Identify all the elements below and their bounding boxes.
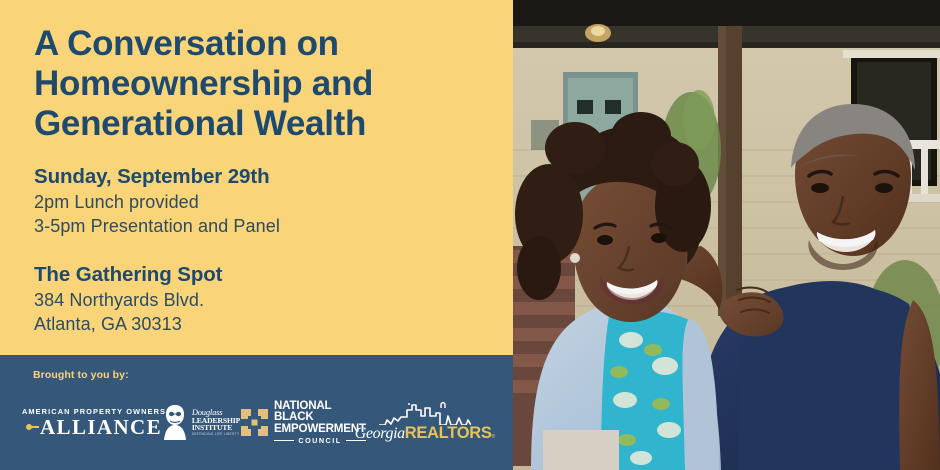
sponsor-logo-douglass-leadership-institute[interactable]: Douglass LEADERSHIP INSTITUTE DEFENDING … [159,404,241,440]
dli-text-lockup: Douglass LEADERSHIP INSTITUTE DEFENDING … [192,408,240,437]
event-details: Sunday, September 29th 2pm Lunch provide… [34,163,504,239]
page-title: A Conversation on Homeownership and Gene… [34,24,484,144]
interlocking-squares-icon [241,409,268,436]
content-block: A Conversation on Homeownership and Gene… [34,24,504,337]
sponsor-logo-row: AMERICAN PROPERTY OWNERS ALLIANCE [29,391,499,453]
sponsor-logo-national-black-empowerment-council[interactable]: NATIONAL BLACK EMPOWERMENT COUNCIL [241,400,366,445]
event-date: Sunday, September 29th [34,163,504,190]
venue-name: The Gathering Spot [34,261,504,288]
apoa-wordmark: ALLIANCE [40,417,162,438]
dli-tagline: DEFENDING LIFE LIBERTY [192,433,240,436]
nbec-line-1: NATIONAL BLACK [274,400,366,424]
title-line-2: Homeownership and [34,64,484,104]
brought-to-you-by-label: Brought to you by: [33,369,129,381]
key-icon [26,423,39,432]
sponsor-logo-american-property-owners-alliance[interactable]: AMERICAN PROPERTY OWNERS ALLIANCE [29,407,159,438]
title-line-1: A Conversation on [34,24,484,64]
douglass-bust-icon [160,404,190,440]
couple-photo [513,0,940,470]
venue-address: 384 Northyards Blvd. [34,288,504,312]
dli-script-name: Douglass [192,408,240,417]
event-schedule-lunch: 2pm Lunch provided [34,190,504,214]
atlanta-skyline-icon [379,402,471,425]
nbec-rule-left [274,440,294,441]
nbec-text-lockup: NATIONAL BLACK EMPOWERMENT COUNCIL [274,400,366,445]
sponsor-footer: Brought to you by: AMERICAN PROPERTY OWN… [0,355,513,470]
georgia-realtors-wordmark: Georgia REALTORS ® [355,424,495,443]
title-line-3: Generational Wealth [34,104,484,144]
photo-illustration [513,0,940,470]
dli-line-2: INSTITUTE [192,424,240,432]
nbec-line-2: EMPOWERMENT [274,423,366,435]
gar-bold-name: REALTORS [405,424,492,443]
nbec-line-3-row: COUNCIL [274,437,366,444]
event-flyer: A Conversation on Homeownership and Gene… [0,0,940,470]
registered-trademark-icon: ® [492,434,496,440]
venue-city-state-zip: Atlanta, GA 30313 [34,312,504,336]
sponsor-logo-georgia-realtors[interactable]: Georgia REALTORS ® [366,402,484,443]
venue-details: The Gathering Spot 384 Northyards Blvd. … [34,261,504,337]
apoa-main-lockup: ALLIANCE [26,417,162,438]
event-schedule-panel: 3-5pm Presentation and Panel [34,214,504,238]
nbec-line-3: COUNCIL [294,437,345,444]
gar-script-name: Georgia [355,425,405,443]
